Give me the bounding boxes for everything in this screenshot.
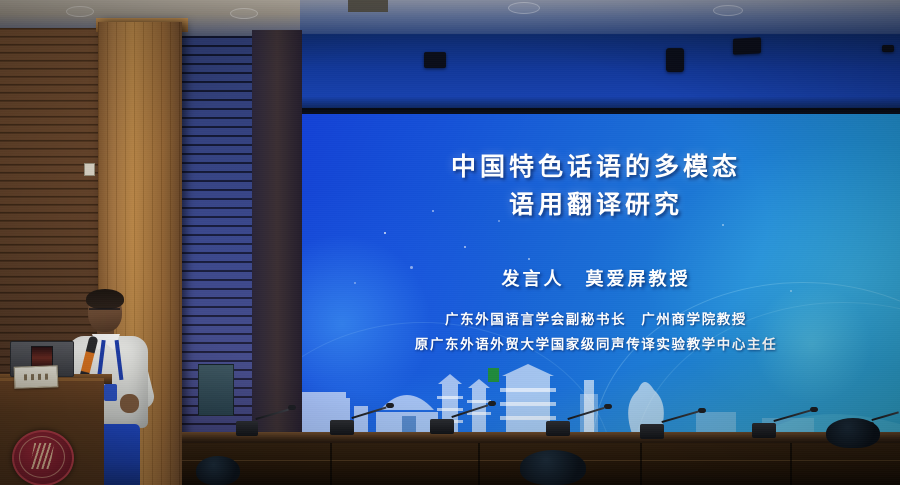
upper-wall (296, 34, 900, 112)
glasses-icon (89, 308, 120, 316)
gooseneck-microphone-base (752, 423, 776, 438)
slide-title-line-2: 语用翻译研究 (292, 186, 900, 224)
recessed-light-icon (230, 8, 258, 19)
gooseneck-microphone-head (698, 408, 706, 413)
table-panel-seam (478, 443, 480, 485)
gooseneck-microphone-head (488, 401, 496, 406)
gooseneck-microphone-base (430, 419, 454, 434)
wall-switch (84, 163, 95, 176)
gooseneck-microphone-base (236, 421, 258, 436)
table-panel-seam (640, 443, 642, 485)
audience-silhouette (196, 456, 240, 485)
gooseneck-microphone-head (604, 404, 612, 409)
slide-affiliation-line-1: 广东外国语言学会副秘书长 广州商学院教授 (292, 308, 900, 328)
gooseneck-microphone-head (386, 403, 394, 408)
gooseneck-microphone-head (810, 407, 818, 412)
slide-affiliation-line-2: 原广东外语外贸大学国家级同声传译实验教学中心主任 (292, 333, 900, 353)
speaker-hair (86, 289, 124, 309)
audience-silhouette (826, 418, 880, 448)
gooseneck-microphone-base (640, 424, 664, 439)
slide-title-line-1: 中国特色话语的多模态 (292, 148, 900, 186)
star-speck (464, 246, 466, 248)
star-speck (384, 232, 386, 234)
presentation-photo-scene: 中国特色话语的多模态 语用翻译研究 发言人 莫爱屏教授 广东外国语言学会副秘书长… (0, 0, 900, 485)
gooseneck-microphone-base (546, 421, 570, 436)
badge (104, 384, 117, 401)
university-emblem (12, 430, 74, 485)
recessed-light-icon (508, 2, 540, 14)
ceiling-vent (348, 0, 388, 12)
gooseneck-microphone-base (330, 420, 354, 435)
ceiling-speaker-icon (666, 48, 684, 72)
table-panel-seam (790, 443, 792, 485)
speaker-name-card (14, 365, 59, 389)
skyline-silhouette (292, 354, 900, 434)
ceiling-speaker-icon (882, 45, 894, 52)
speaker-right-hand (120, 394, 139, 413)
ceiling-speaker-icon (424, 52, 446, 68)
ceiling-speaker-icon (733, 37, 761, 54)
gooseneck-microphone-head (288, 405, 296, 410)
wall-vent (198, 364, 234, 416)
audience-silhouette (520, 450, 586, 485)
slide-title: 中国特色话语的多模态 语用翻译研究 (292, 148, 900, 224)
table-panel-seam (330, 443, 332, 485)
slide-speaker-line: 发言人 莫爱屏教授 (292, 265, 900, 291)
star-speck (722, 224, 724, 226)
recessed-light-icon (66, 6, 94, 17)
recessed-light-icon (713, 5, 743, 16)
projection-screen: 中国特色话语的多模态 语用翻译研究 发言人 莫爱屏教授 广东外国语言学会副秘书长… (292, 114, 900, 434)
star-speck (528, 258, 530, 260)
